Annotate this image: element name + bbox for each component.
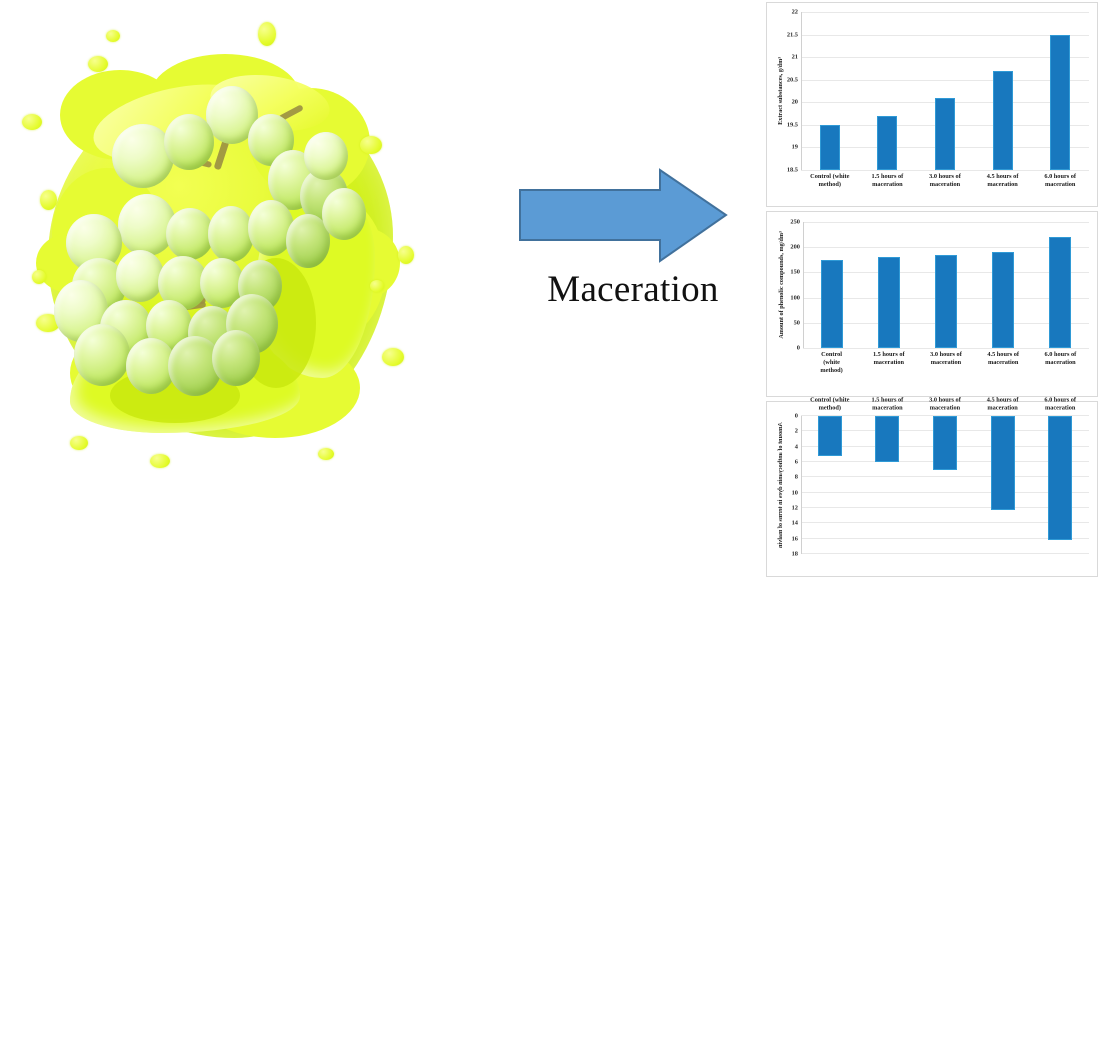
plot-area-3: Amount of anthocyanin dyes in terms of m… <box>767 402 1097 576</box>
juice-droplet <box>32 270 46 284</box>
bar <box>993 71 1013 170</box>
bar <box>1048 416 1072 540</box>
y-axis-tick-label: 0 <box>797 345 800 352</box>
juice-droplet <box>22 114 42 130</box>
grape-berry <box>116 250 164 302</box>
gridline <box>801 553 1089 554</box>
y-axis-tick-label: 21 <box>792 54 798 61</box>
y-axis-tick-label: 4 <box>795 443 798 450</box>
grape-berry <box>74 324 130 386</box>
gridline <box>801 476 1089 477</box>
bar <box>875 416 899 462</box>
y-axis-tick-label: 250 <box>790 219 800 226</box>
plot-area-2: Amount of phenolic compounds, mg/dm³0501… <box>767 212 1097 396</box>
y-axis-tick-label: 8 <box>795 474 798 481</box>
bar <box>1049 237 1071 348</box>
gridline <box>801 538 1089 539</box>
maceration-label: Maceration <box>518 268 748 311</box>
bar <box>992 252 1014 348</box>
y-axis-tick-label: 18 <box>792 551 798 558</box>
y-axis-tick-label: 20.5 <box>787 76 798 83</box>
gridline <box>801 522 1089 523</box>
juice-droplet <box>382 348 404 366</box>
bar <box>820 125 840 170</box>
gridline <box>801 170 1089 171</box>
y-axis-tick-label: 0 <box>795 413 798 420</box>
grape-juice-illustration <box>0 18 440 468</box>
grape-berry <box>304 132 348 180</box>
y-axis-line <box>803 222 804 348</box>
y-axis-tick-label: 10 <box>792 489 798 496</box>
juice-droplet <box>40 190 57 210</box>
grape-berry <box>322 188 366 240</box>
gridline <box>801 80 1089 81</box>
gridline <box>801 12 1089 13</box>
juice-droplet <box>360 136 382 154</box>
y-axis-tick-label: 20 <box>792 99 798 106</box>
juice-splash-layer <box>0 18 440 468</box>
gridline <box>803 348 1089 349</box>
plot-area-1: Extract substances, g/dm³18.51919.52020.… <box>767 3 1097 206</box>
y-axis-title: Amount of phenolic compounds, mg/dm³ <box>778 222 786 348</box>
grape-berry <box>208 206 254 262</box>
bar <box>818 416 842 456</box>
juice-droplet <box>398 246 414 264</box>
x-axis-category-label: 6.0 hours of maceration <box>1031 173 1089 189</box>
y-axis-tick-label: 100 <box>790 294 800 301</box>
juice-droplet <box>70 436 88 450</box>
chart-panel-extract-substances: Extract substances, g/dm³18.51919.52020.… <box>766 2 1098 207</box>
x-axis-category-label: 3.0 hours of maceration <box>916 173 974 189</box>
gridline <box>803 222 1089 223</box>
x-axis-category-label: Control (white method) <box>801 397 859 413</box>
gridline <box>803 247 1089 248</box>
x-axis-category-label: 1.5 hours of maceration <box>859 397 917 413</box>
x-axis-category-label: Control (white method) <box>801 173 859 189</box>
charts-column: Extract substances, g/dm³18.51919.52020.… <box>766 2 1098 581</box>
gridline <box>801 35 1089 36</box>
x-axis-category-label: 3.0 hours of maceration <box>917 351 974 367</box>
juice-droplet <box>150 454 170 468</box>
juice-droplet <box>318 448 334 460</box>
gridline <box>801 492 1089 493</box>
gridline <box>801 57 1089 58</box>
gridline <box>801 507 1089 508</box>
x-axis-category-label: 1.5 hours of maceration <box>860 351 917 367</box>
bar <box>935 98 955 170</box>
y-axis-tick-label: 50 <box>794 319 800 326</box>
bar <box>991 416 1015 510</box>
bar <box>935 255 957 348</box>
y-axis-tick-label: 19.5 <box>787 121 798 128</box>
y-axis-tick-label: 150 <box>790 269 800 276</box>
x-axis-category-label: 6.0 hours of maceration <box>1032 351 1089 367</box>
chart-panel-phenolic-compounds: Amount of phenolic compounds, mg/dm³0501… <box>766 211 1098 397</box>
juice-droplet <box>106 30 120 42</box>
grape-berry <box>164 114 214 170</box>
grape-berry <box>166 208 214 260</box>
x-axis-category-label: 4.5 hours of maceration <box>975 351 1032 367</box>
y-axis-title: Extract substances, g/dm³ <box>777 12 785 170</box>
y-axis-tick-label: 14 <box>792 520 798 527</box>
x-axis-category-label: 6.0 hours of maceration <box>1031 397 1089 413</box>
x-axis-category-label: Control (white method) <box>803 351 860 376</box>
juice-droplet <box>370 280 384 292</box>
y-axis-line <box>801 416 802 554</box>
x-axis-category-label: 3.0 hours of maceration <box>916 397 974 413</box>
y-axis-tick-label: 22 <box>792 9 798 16</box>
y-axis-line <box>801 12 802 170</box>
bar <box>878 257 900 348</box>
y-axis-title: Amount of anthocyanin dyes in terms of m… <box>777 416 785 554</box>
juice-droplet <box>258 22 276 46</box>
juice-droplet <box>88 56 108 72</box>
x-axis-category-label: 4.5 hours of maceration <box>974 397 1032 413</box>
y-axis-tick-label: 200 <box>790 244 800 251</box>
y-axis-tick-label: 19 <box>792 144 798 151</box>
y-axis-tick-label: 16 <box>792 535 798 542</box>
y-axis-tick-label: 2 <box>795 428 798 435</box>
chart-panel-anthocyanin-dyes: Amount of anthocyanin dyes in terms of m… <box>766 401 1098 577</box>
bar <box>821 260 843 348</box>
grape-berry <box>212 330 260 386</box>
y-axis-tick-label: 21.5 <box>787 31 798 38</box>
x-axis-category-label: 1.5 hours of maceration <box>859 173 917 189</box>
y-axis-tick-label: 6 <box>795 459 798 466</box>
arrow-shape <box>520 170 726 261</box>
bar <box>877 116 897 170</box>
bar <box>933 416 957 470</box>
y-axis-tick-label: 18.5 <box>787 167 798 174</box>
bar <box>1050 35 1070 170</box>
x-axis-category-label: 4.5 hours of maceration <box>974 173 1032 189</box>
maceration-arrow <box>518 168 728 263</box>
y-axis-tick-label: 12 <box>792 505 798 512</box>
